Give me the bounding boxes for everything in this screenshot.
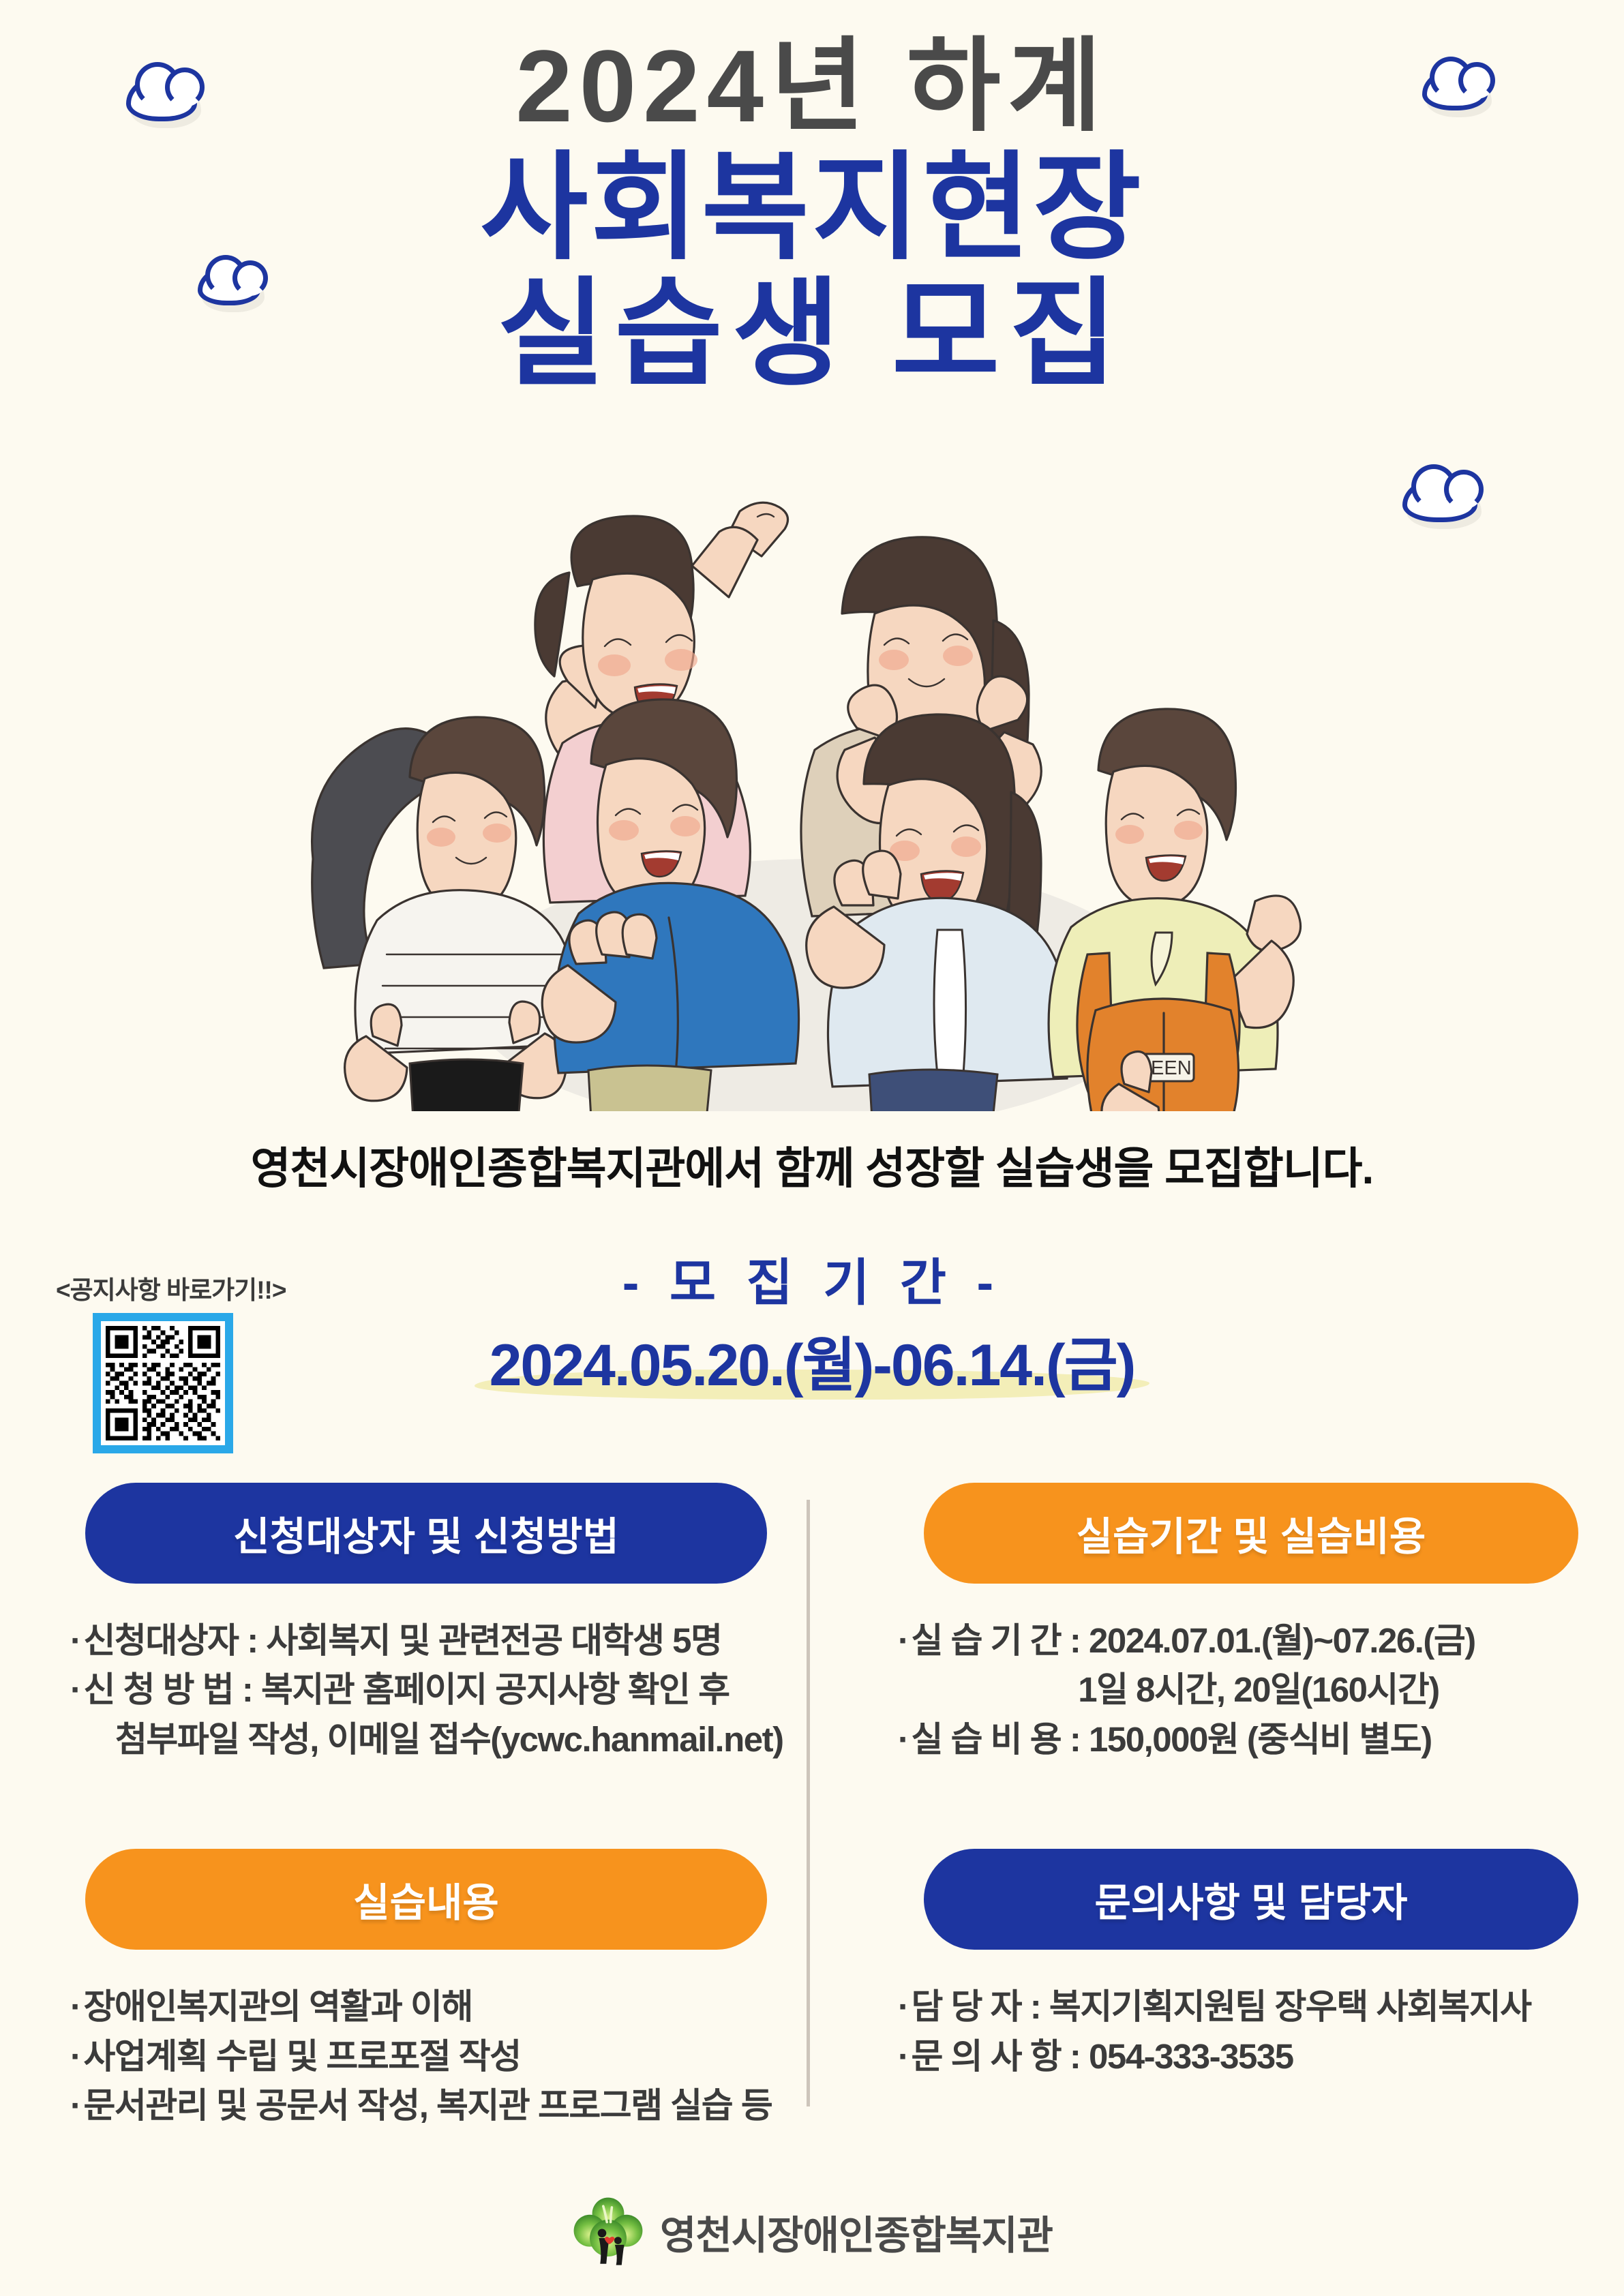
- student-front-far-right: TEEN: [1049, 709, 1300, 1111]
- cloud-icon: [1422, 68, 1488, 110]
- info-cards: 신청대상자 및 신청방법 ·신청대상자 : 사회복지 및 관련전공 대학생 5명…: [0, 1483, 1624, 2124]
- list-item: ·문 의 사 항 : 054-333-3535: [898, 2032, 1619, 2081]
- list-item: ·담 당 자 : 복지기획지원팀 장우택 사회복지사: [898, 1982, 1619, 2031]
- group-students-illustration: .ln { fill:none; stroke:#3a3330; stroke-…: [269, 477, 1374, 1111]
- title-line-year: 2024년 하계: [515, 27, 1108, 145]
- list-item: ·실 습 기 간 : 2024.07.01.(월)~07.26.(금): [898, 1616, 1619, 1665]
- list-item: ·장애인복지관의 역활과 이해: [70, 1982, 794, 2031]
- list-item: ·실 습 비 용 : 150,000원 (중식비 별도): [898, 1715, 1619, 1764]
- list-item: 첨부파일 작성, 이메일 접수(ycwc.hanmail.net): [70, 1715, 794, 1764]
- card-header-apply: 신청대상자 및 신청방법: [85, 1483, 767, 1584]
- poster-root: 2024년 하계 사회복지현장 실습생 모집 .ln { fill:none; …: [0, 0, 1624, 2296]
- cloud-icon: [1402, 477, 1477, 522]
- recruitment-period-date: 2024.05.20.(월)-06.14.(금): [475, 1317, 1150, 1402]
- footer: 영천시장애인종합복지관: [0, 2195, 1624, 2269]
- cards-column-left: 신청대상자 및 신청방법 ·신청대상자 : 사회복지 및 관련전공 대학생 5명…: [58, 1483, 794, 2130]
- cloud-icon: [198, 266, 260, 305]
- spacer: [58, 1764, 794, 1849]
- card-body-apply: ·신청대상자 : 사회복지 및 관련전공 대학생 5명 ·신 청 방 법 : 복…: [58, 1616, 794, 1764]
- card-header-period-cost: 실습기간 및 실습비용: [924, 1483, 1578, 1584]
- list-item: ·신청대상자 : 사회복지 및 관련전공 대학생 5명: [70, 1616, 794, 1665]
- title-block: 2024년 하계 사회복지현장 실습생 모집: [0, 27, 1624, 398]
- list-item: ·문서관리 및 공문서 작성, 복지관 프로그램 실습 등: [70, 2081, 794, 2130]
- qr-caption: <공지사항 바로가기!!>: [56, 1269, 286, 1306]
- vertical-divider: [807, 1500, 810, 2106]
- list-item: 1일 8시간, 20일(160시간): [898, 1665, 1619, 1715]
- footer-organization-name: 영천시장애인종합복지관: [660, 2203, 1053, 2261]
- list-item: ·사업계획 수립 및 프로포절 작성: [70, 2032, 794, 2081]
- cloud-icon: [126, 75, 197, 121]
- card-body-period-cost: ·실 습 기 간 : 2024.07.01.(월)~07.26.(금) 1일 8…: [883, 1616, 1619, 1764]
- student-front-far-left: [312, 717, 577, 1111]
- cards-column-right: 실습기간 및 실습비용 ·실 습 기 간 : 2024.07.01.(월)~07…: [883, 1483, 1619, 2081]
- title-line-main: 사회복지현장: [0, 145, 1624, 272]
- card-header-content: 실습내용: [85, 1849, 767, 1950]
- spacer: [883, 1764, 1619, 1849]
- card-body-content: ·장애인복지관의 역활과 이해 ·사업계획 수립 및 프로포절 작성 ·문서관리…: [58, 1982, 794, 2130]
- card-body-contact: ·담 당 자 : 복지기획지원팀 장우택 사회복지사 ·문 의 사 항 : 05…: [883, 1982, 1619, 2081]
- card-header-contact: 문의사항 및 담당자: [924, 1849, 1578, 1950]
- subtitle: 영천시장애인종합복지관에서 함께 성장할 실습생을 모집합니다.: [0, 1134, 1624, 1196]
- qr-block[interactable]: <공지사항 바로가기!!>: [41, 1269, 286, 1453]
- list-item: ·신 청 방 법 : 복지관 홈페이지 공지사항 확인 후: [70, 1665, 794, 1715]
- qr-code-image[interactable]: [93, 1313, 233, 1453]
- tree-people-logo-icon: [571, 2195, 645, 2269]
